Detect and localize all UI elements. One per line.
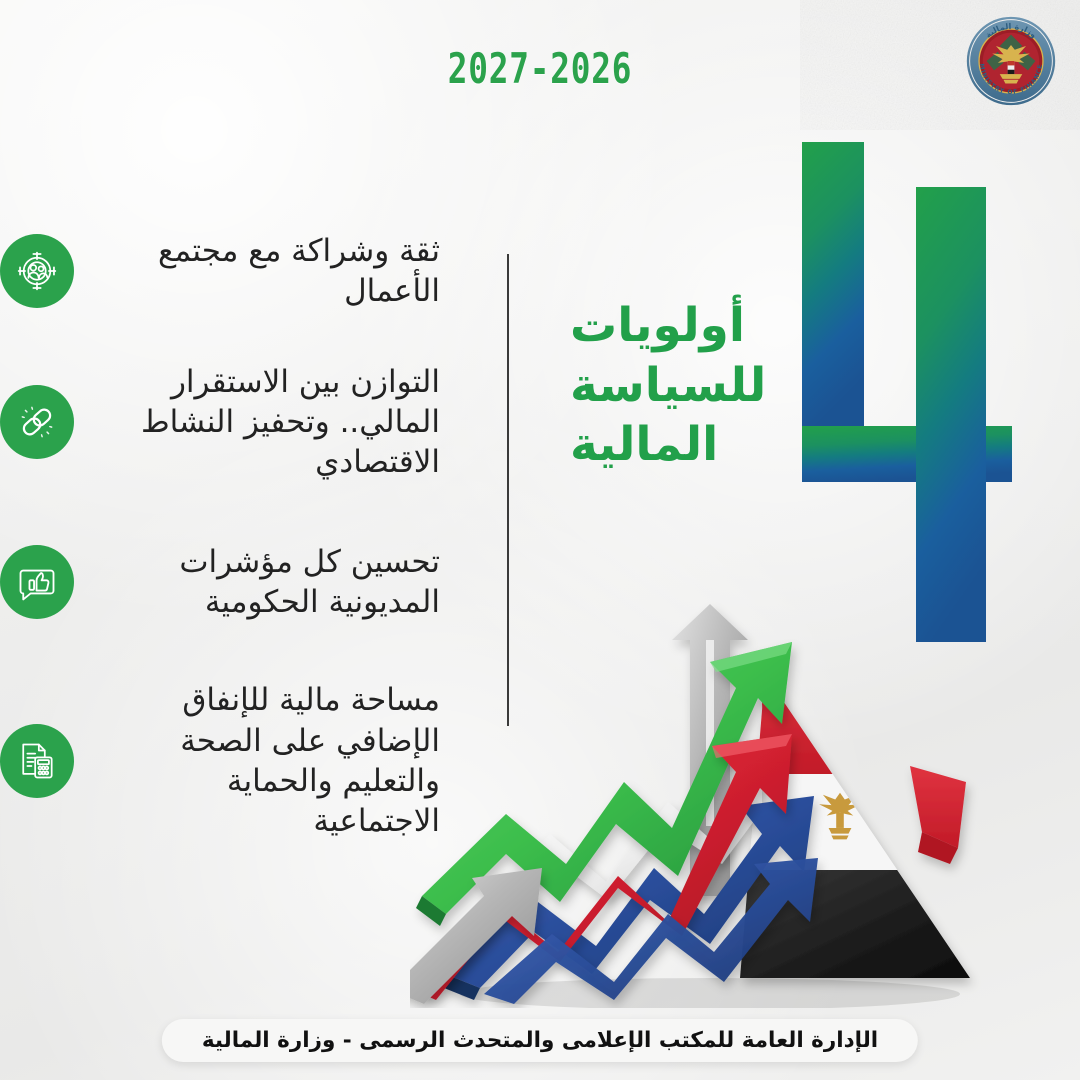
- footer-text: الإدارة العامة للمكتب الإعلامى والمتحدث …: [202, 1028, 878, 1053]
- timeline-connector-1: [507, 254, 509, 406]
- priority-bullet-2[interactable]: [0, 385, 74, 459]
- ministry-of-finance-emblem: وزارة المالية MINISTRY OF FINANCE: [964, 14, 1058, 108]
- target-people-icon: [15, 249, 59, 293]
- fiscal-year-range: 2027-2026: [119, 44, 961, 93]
- priority-count-numeral: [796, 142, 1046, 642]
- timeline-connector-2: [507, 406, 509, 558]
- priority-text-3: تحسين كل مؤشرات المديونية الحكومية: [74, 542, 440, 623]
- headline-line-2: للسياسة: [570, 356, 820, 416]
- timeline-connector-3: [507, 558, 509, 726]
- priority-bullet-4[interactable]: [0, 724, 74, 798]
- thumbs-up-bubble-icon: [15, 560, 59, 604]
- page-headline: أولويات للسياسة المالية: [570, 296, 820, 475]
- headline-line-3: المالية: [570, 415, 820, 475]
- priority-bullet-3[interactable]: [0, 545, 74, 619]
- priority-text-4: مساحة مالية للإنفاق الإضافي على الصحة وا…: [74, 680, 440, 841]
- priority-bullet-1[interactable]: [0, 234, 74, 308]
- infographic-canvas: 2027-2026 وز: [0, 0, 1080, 1080]
- document-calculator-icon: [15, 739, 59, 783]
- priority-text-2: التوازن بين الاستقرار المالي.. وتحفيز ال…: [74, 362, 440, 483]
- priority-text-1: ثقة وشراكة مع مجتمع الأعمال: [74, 231, 440, 312]
- list-item[interactable]: التوازن بين الاستقرار المالي.. وتحفيز ال…: [0, 346, 530, 498]
- list-item[interactable]: ثقة وشراكة مع مجتمع الأعمال: [0, 196, 530, 346]
- footer-badge: الإدارة العامة للمكتب الإعلامى والمتحدث …: [162, 1019, 918, 1062]
- headline-line-1: أولويات: [570, 296, 820, 356]
- chain-link-icon: [15, 400, 59, 444]
- growth-arrows-egypt-flag-illustration: [410, 596, 1010, 1008]
